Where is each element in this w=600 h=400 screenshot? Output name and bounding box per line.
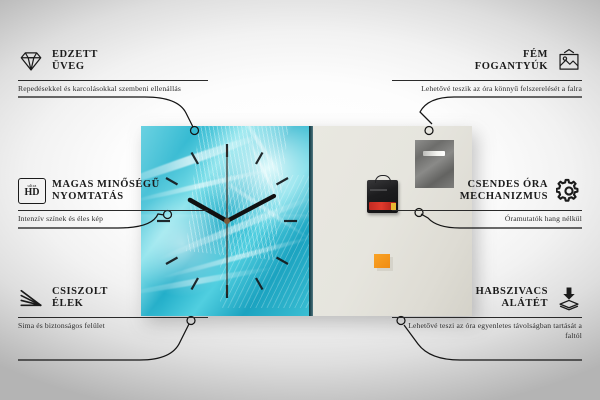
feature-title: CSENDES ÓRA MECHANIZMUS <box>460 179 548 204</box>
ultra-hd-icon: ultra HD <box>18 178 44 204</box>
feature-tempered-glass: EDZETT ÜVEG Repedésekkel és karcolásokka… <box>18 44 208 94</box>
diamond-icon <box>18 48 44 74</box>
arrow-onto-layers-icon <box>556 285 582 311</box>
feature-description: Sima és biztonságos felület <box>18 321 208 331</box>
feature-description: Lehetővé teszik az óra könnyű felszerelé… <box>392 84 582 94</box>
foam-spacer-pad <box>374 254 390 268</box>
clock-center-cap <box>224 218 230 224</box>
feature-silent-mechanism: CSENDES ÓRA MECHANIZMUS Óramutatók hang … <box>392 174 582 224</box>
feature-description: Lehetővé teszi az óra egyenletes távolsá… <box>392 321 582 340</box>
infographic-stage: EDZETT ÜVEG Repedésekkel és karcolásokka… <box>0 0 600 400</box>
divider <box>392 80 582 81</box>
divider <box>18 317 208 318</box>
feature-header: HABSZIVACS ALÁTÉT <box>392 281 582 315</box>
hanger-slot <box>423 151 445 156</box>
feature-hd-print: ultra HD MAGAS MINŐSÉGŰ NYOMTATÁS Intenz… <box>18 174 208 224</box>
feature-description: Intenzív színek és éles kép <box>18 214 208 224</box>
feature-foam-pad: HABSZIVACS ALÁTÉT Lehetővé teszi az óra … <box>392 281 582 340</box>
mechanism-detail <box>370 189 387 191</box>
feature-metal-handles: FÉM FOGANTYÚK Lehetővé teszik az óra kön… <box>392 44 582 94</box>
gear-icon <box>556 178 582 204</box>
feature-header: CSISZOLT ÉLEK <box>18 281 208 315</box>
feature-title: CSISZOLT ÉLEK <box>52 286 108 311</box>
feature-description: Repedésekkel és karcolásokkal szembeni e… <box>18 84 208 94</box>
feature-header: EDZETT ÜVEG <box>18 44 208 78</box>
polished-edge-lines-icon <box>18 285 44 311</box>
clock-minute-hand <box>227 196 274 221</box>
divider <box>392 317 582 318</box>
feature-polished-edges: CSISZOLT ÉLEK Sima és biztonságos felüle… <box>18 281 208 331</box>
feature-header: CSENDES ÓRA MECHANIZMUS <box>392 174 582 208</box>
divider <box>392 210 582 211</box>
ultra-hd-icon-main: HD <box>25 188 40 198</box>
divider <box>18 80 208 81</box>
picture-frame-hanger-icon <box>556 48 582 74</box>
feature-header: ultra HD MAGAS MINŐSÉGŰ NYOMTATÁS <box>18 174 208 208</box>
divider <box>18 210 208 211</box>
feature-description: Óramutatók hang nélkül <box>392 214 582 224</box>
mechanism-hook <box>375 175 391 183</box>
feature-title: FÉM FOGANTYÚK <box>475 49 548 74</box>
feature-title: MAGAS MINŐSÉGŰ NYOMTATÁS <box>52 179 160 204</box>
feature-title: HABSZIVACS ALÁTÉT <box>476 286 548 311</box>
feature-header: FÉM FOGANTYÚK <box>392 44 582 78</box>
feature-title: EDZETT ÜVEG <box>52 49 98 74</box>
